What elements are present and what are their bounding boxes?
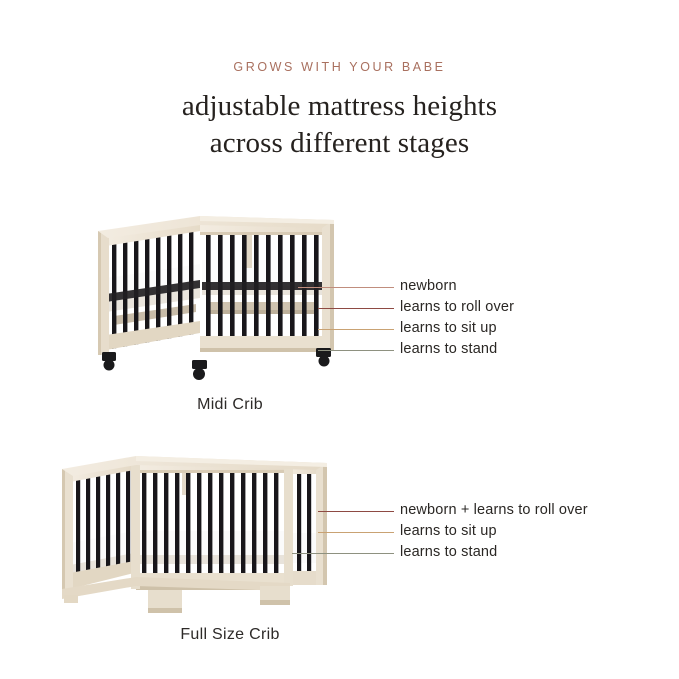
full-size-crib-illustration [52,443,342,623]
callout-label: learns to roll over [400,300,514,315]
callout-label: newborn + learns to roll over [400,503,588,518]
callout-leader-line [292,553,394,554]
eyebrow-kicker: GROWS WITH YOUR BABE [0,60,679,74]
page-title-line-1: adjustable mattress heights [0,88,679,125]
callout-label: learns to stand [400,342,497,357]
callout-label: learns to sit up [400,524,497,539]
callout-leader-line [298,287,394,288]
page-title: adjustable mattress heights across diffe… [0,88,679,162]
callout-label: learns to stand [400,545,497,560]
callout-label: learns to sit up [400,321,497,336]
midi-crib-caption: Midi Crib [0,396,460,414]
page-title-line-2: across different stages [0,125,679,162]
callout-leader-line [318,350,394,351]
callout-leader-line [318,532,394,533]
callout-leader-line [318,511,394,512]
callout-leader-line [318,308,394,309]
midi-crib-illustration [84,198,344,393]
full-middle-post [131,465,140,589]
midi-casters [102,348,331,380]
callout-label: newborn [400,279,457,294]
full-front-panel [136,459,290,590]
infographic-page: GROWS WITH YOUR BABE adjustable mattress… [0,0,679,679]
full-size-crib-caption: Full Size Crib [0,626,460,644]
callout-leader-line [318,329,394,330]
